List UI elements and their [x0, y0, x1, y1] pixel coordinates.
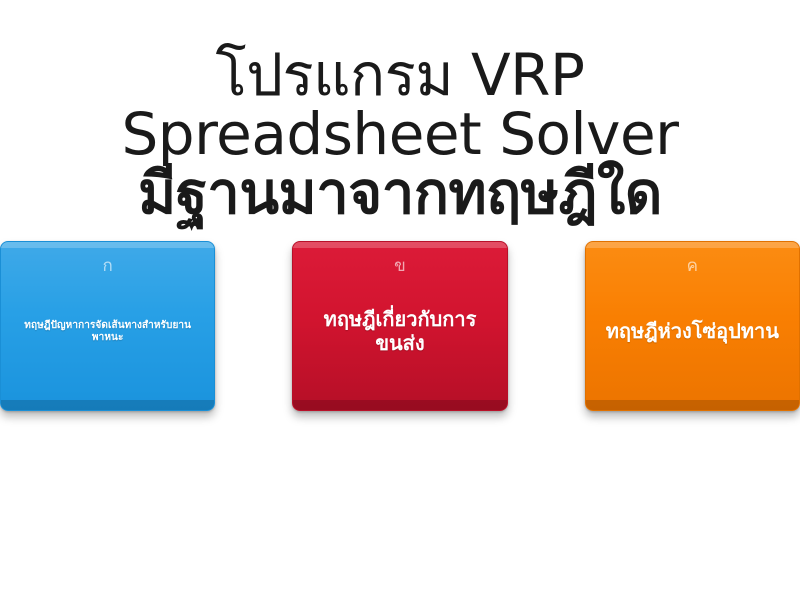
answer-body-a: ทฤษฎีปัญหาการจัดเส้นทางสำหรับยานพาหนะ: [1, 275, 214, 410]
question-line-1: โปรแกรม VRP: [0, 46, 800, 105]
answer-text-b: ทฤษฎีเกี่ยวกับการขนส่ง: [301, 308, 498, 355]
answer-text-c: ทฤษฎีห่วงโซ่อุปทาน: [606, 320, 779, 344]
answers-row: ก ทฤษฎีปัญหาการจัดเส้นทางสำหรับยานพาหนะ …: [0, 241, 800, 411]
answer-card-a[interactable]: ก ทฤษฎีปัญหาการจัดเส้นทางสำหรับยานพาหนะ: [0, 241, 215, 411]
answer-card-b[interactable]: ข ทฤษฎีเกี่ยวกับการขนส่ง: [292, 241, 507, 411]
answer-letter-b: ข: [394, 258, 406, 275]
answer-letter-a: ก: [103, 258, 113, 275]
answer-body-c: ทฤษฎีห่วงโซ่อุปทาน: [586, 275, 799, 410]
answer-card-c[interactable]: ค ทฤษฎีห่วงโซ่อุปทาน: [585, 241, 800, 411]
question-block: โปรแกรม VRP Spreadsheet Solver มีฐานมาจา…: [0, 0, 800, 223]
answer-body-b: ทฤษฎีเกี่ยวกับการขนส่ง: [293, 275, 506, 410]
answer-letter-c: ค: [687, 258, 698, 275]
answer-text-a: ทฤษฎีปัญหาการจัดเส้นทางสำหรับยานพาหนะ: [9, 320, 206, 344]
question-line-2: Spreadsheet Solver: [0, 105, 800, 164]
question-line-3: มีฐานมาจากทฤษฎีใด: [0, 164, 800, 223]
quiz-stage: โปรแกรม VRP Spreadsheet Solver มีฐานมาจา…: [0, 0, 800, 600]
